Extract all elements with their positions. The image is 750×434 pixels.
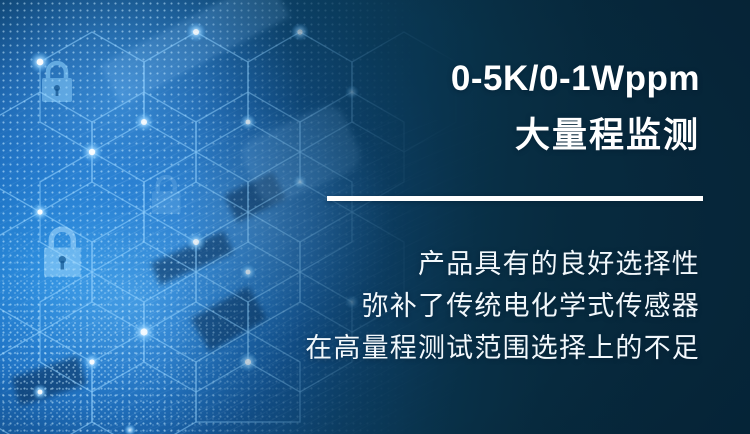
subtext-line-2: 弥补了传统电化学式传感器 [305, 285, 700, 327]
headline-line-2: 大量程监测 [451, 114, 700, 158]
promotional-banner: 0-5K/0-1Wppm 大量程监测 产品具有的良好选择性 弥补了传统电化学式传… [0, 0, 750, 434]
headline-block: 0-5K/0-1Wppm 大量程监测 [451, 58, 700, 158]
subtext-line-1: 产品具有的良好选择性 [305, 243, 700, 285]
horizontal-divider [327, 196, 703, 201]
banner-content: 0-5K/0-1Wppm 大量程监测 产品具有的良好选择性 弥补了传统电化学式传… [0, 0, 750, 434]
subtext-line-3: 在高量程测试范围选择上的不足 [305, 327, 700, 369]
subtext-block: 产品具有的良好选择性 弥补了传统电化学式传感器 在高量程测试范围选择上的不足 [305, 243, 700, 369]
headline-line-1: 0-5K/0-1Wppm [451, 58, 700, 100]
